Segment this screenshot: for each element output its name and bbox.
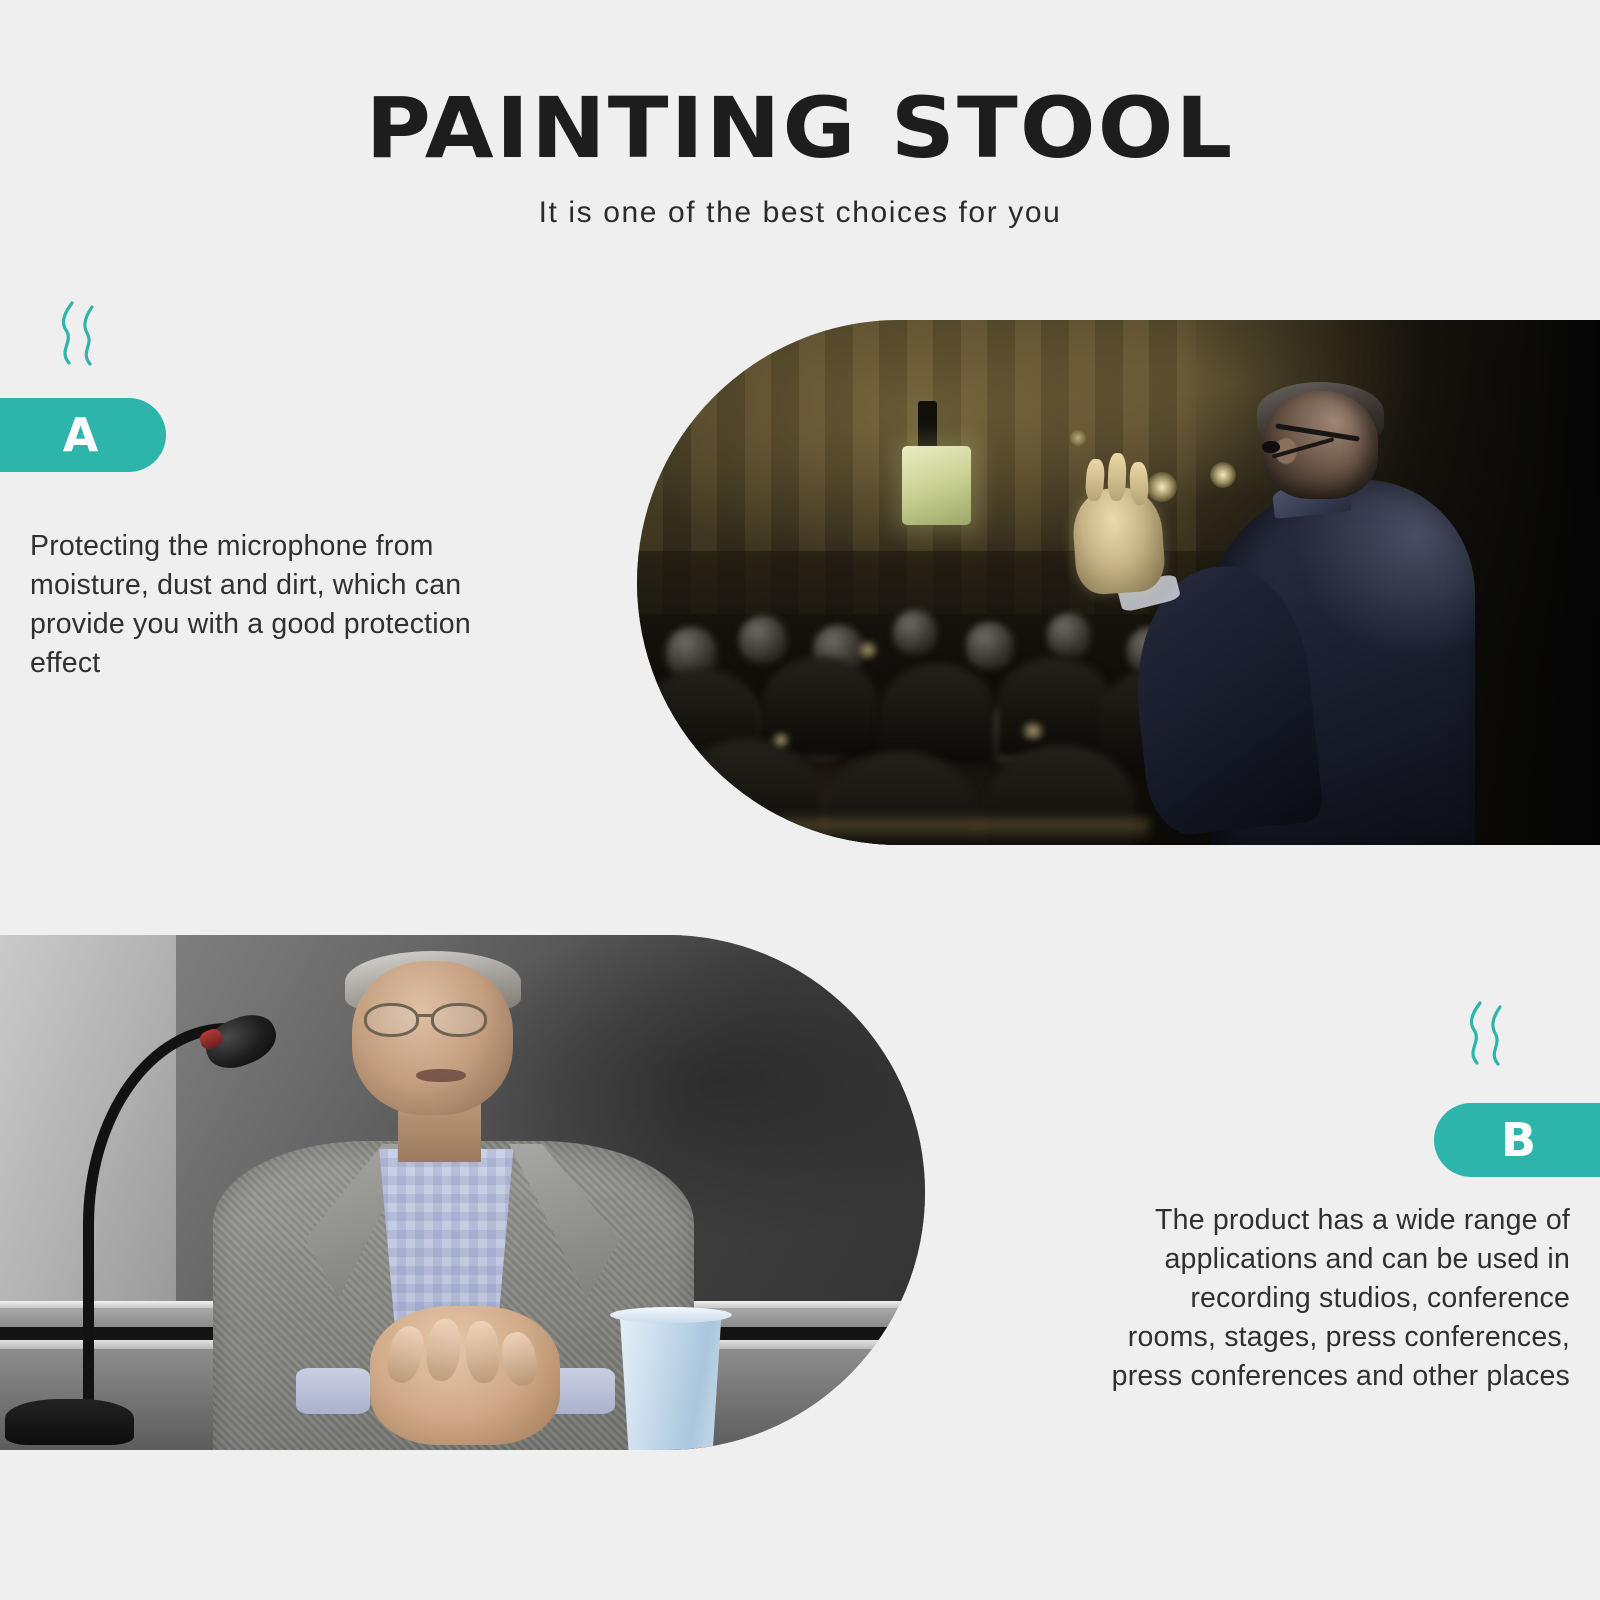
smoke-swirl-icon [52, 300, 106, 371]
feature-badge-b-letter: B [1501, 1117, 1537, 1163]
page-subtitle: It is one of the best choices for you [0, 196, 1600, 230]
page-title: PAINTING STOOL [0, 86, 1600, 170]
poster-header: PAINTING STOOL It is one of the best cho… [0, 0, 1600, 230]
feature-a-description: Protecting the microphone from moisture,… [30, 527, 510, 683]
smoke-swirl-icon [1460, 1000, 1514, 1071]
feature-badge-a[interactable]: A [0, 398, 166, 472]
seated-speaker-gooseneck-mic-photo [0, 935, 925, 1450]
feature-badge-a-letter: A [63, 412, 100, 458]
conference-hall-speaker-photo [637, 320, 1600, 845]
feature-badge-b[interactable]: B [1434, 1103, 1600, 1177]
feature-b-description: The product has a wide range of applicat… [1100, 1201, 1570, 1396]
product-feature-poster: PAINTING STOOL It is one of the best cho… [0, 0, 1600, 1600]
